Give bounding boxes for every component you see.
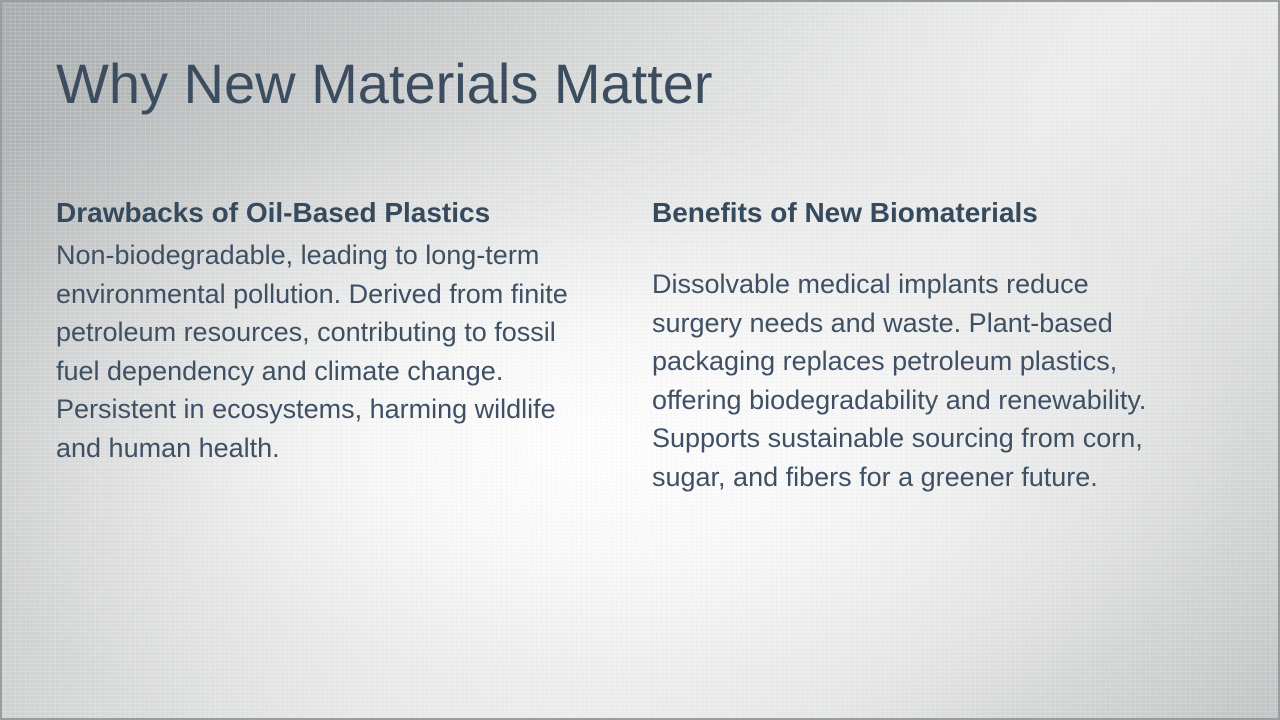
content-column-right: Benefits of New Biomaterials Dissolvable… [652, 190, 1174, 496]
column-heading-drawbacks: Drawbacks of Oil-Based Plastics [56, 190, 526, 235]
page-title: Why New Materials Matter [56, 52, 1226, 116]
column-body-benefits: Dissolvable medical implants reduce surg… [652, 265, 1174, 496]
content-column-left: Drawbacks of Oil-Based Plastics Non-biod… [56, 190, 572, 467]
presentation-slide: Why New Materials Matter Drawbacks of Oi… [0, 0, 1280, 720]
slide-content: Why New Materials Matter Drawbacks of Oi… [0, 0, 1280, 720]
column-body-drawbacks: Non-biodegradable, leading to long-term … [56, 236, 572, 467]
column-heading-benefits: Benefits of New Biomaterials [652, 190, 1174, 235]
